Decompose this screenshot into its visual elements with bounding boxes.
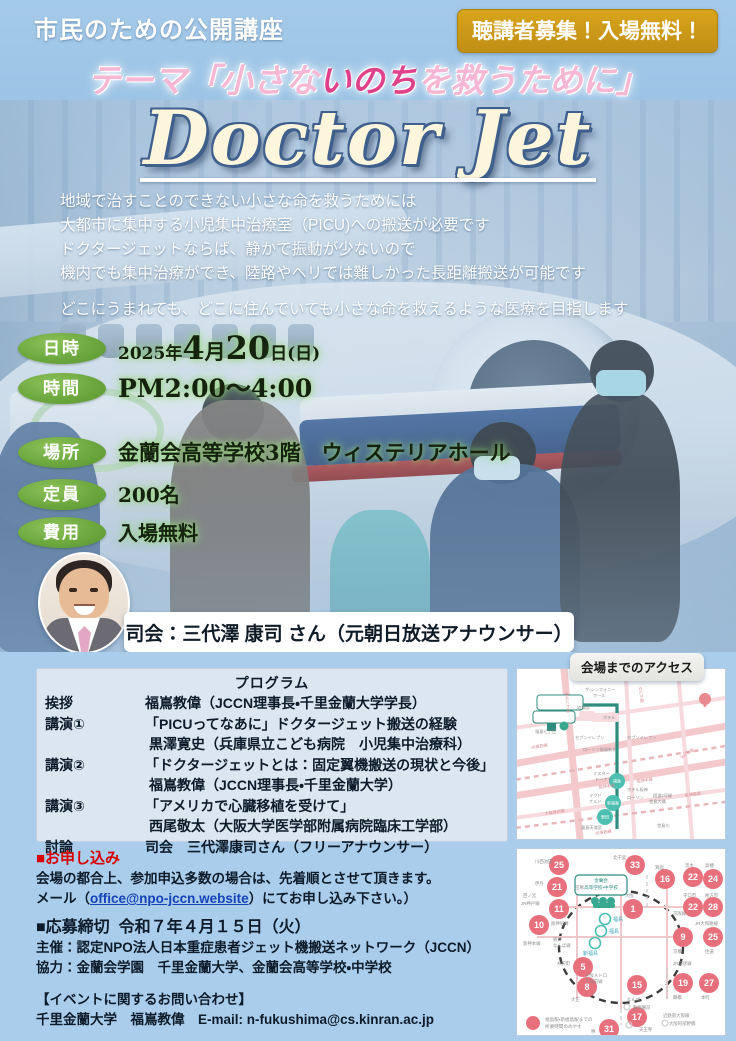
svg-text:28: 28 <box>708 902 718 912</box>
program-line-text: 「アメリカで心臓移植を受けて」 <box>145 798 354 814</box>
svg-text:JR神戸線: JR神戸線 <box>521 900 540 907</box>
svg-text:住道: 住道 <box>705 948 714 955</box>
svg-text:JR環状線: JR環状線 <box>673 960 692 967</box>
info-value-capacity: 200名 <box>118 478 180 512</box>
svg-text:本町: 本町 <box>701 994 710 1001</box>
svg-text:セブンイレブン: セブンイレブン <box>575 734 604 740</box>
svg-text:ミスター: ミスター <box>593 770 610 777</box>
application-note-2: メール（office@npo-jccn.website）にてお申し込み下さい。） <box>36 889 506 909</box>
svg-text:大阪メトロ: 大阪メトロ <box>585 972 607 979</box>
program-line: 西尾敬太（大阪大学医学部附属病院臨床工学部） <box>37 816 507 837</box>
svg-text:福島駅・新福島駅までの: 福島駅・新福島駅までの <box>545 1016 593 1023</box>
description-line-2: 大都市に集中する小児集中治療室（PICU)への搬送が必要です <box>60 214 720 238</box>
mc-banner: 司会：三代澤 康司 さん（元朝日放送アナウンサー） <box>124 612 574 652</box>
svg-text:野田: 野田 <box>601 814 609 820</box>
svg-text:茨木: 茨木 <box>685 862 694 869</box>
svg-text:10: 10 <box>534 920 544 930</box>
svg-text:所要時間のめやす: 所要時間のめやす <box>545 1023 582 1030</box>
svg-text:福島: 福島 <box>613 778 621 784</box>
svg-text:25: 25 <box>708 932 718 942</box>
program-line-text: 福嶌教偉（JCCN理事長・千里金蘭大学） <box>149 777 402 793</box>
svg-text:ローソン: ローソン <box>627 795 644 800</box>
rail-access-map[interactable]: 金蘭会 高等学校・中学校 福島福島新福島 <box>516 848 726 1036</box>
rail-map-svg: 金蘭会 高等学校・中学校 福島福島新福島 <box>517 849 725 1035</box>
svg-text:9: 9 <box>680 932 685 942</box>
application-note-2-prefix: メール（ <box>36 891 90 906</box>
event-poster: 市民のための公開講座 聴講者募集！入場無料！ テーマ「小さないのちを救うために」… <box>0 0 736 1041</box>
svg-text:川西池田: 川西池田 <box>535 858 553 865</box>
svg-text:幼稚園: 幼稚園 <box>577 704 590 711</box>
info-value-fee: 入場無料 <box>118 516 198 550</box>
contact-heading: 【イベントに関するお問い合わせ】 <box>36 990 506 1010</box>
program-line: 講演②「ドクタージェットとは：固定翼機搬送の現状と今後」 <box>37 755 507 776</box>
svg-text:11: 11 <box>554 904 564 914</box>
svg-text:22: 22 <box>688 872 698 882</box>
program-line-text: 西尾敬太（大阪大学医学部附属病院臨床工学部） <box>149 818 457 834</box>
organizer-cooperation: 協力：金蘭会学園 千里金蘭大学、金蘭会高等学校・中学校 <box>36 958 506 978</box>
svg-text:鶴橋: 鶴橋 <box>673 994 682 1001</box>
mc-text: 司会：三代澤 康司 さん（元朝日放送アナウンサー） <box>125 619 572 646</box>
program-line-label: 講演③ <box>45 796 145 817</box>
date-day-suffix: 日(日) <box>270 344 320 364</box>
svg-text:24: 24 <box>708 874 718 884</box>
info-label-fee: 費用 <box>18 517 106 548</box>
svg-text:弁天町: 弁天町 <box>557 960 571 967</box>
organizer-block: 主催：認定NPO法人日本重症患者ジェット機搬送ネットワーク（JCCN） 協力：金… <box>36 938 506 1030</box>
recruit-badge: 聴講者募集！入場無料！ <box>457 9 718 53</box>
svg-text:27: 27 <box>704 978 714 988</box>
svg-text:福島: 福島 <box>609 928 619 935</box>
svg-text:阪神本線: 阪神本線 <box>523 940 541 947</box>
svg-text:31: 31 <box>604 1024 614 1034</box>
date-year: 2025年 <box>118 344 182 364</box>
description-line-3: ドクタージェットならば、静かで振動が少ないので <box>60 238 720 262</box>
svg-text:大阪阿部野橋: 大阪阿部野橋 <box>669 1020 696 1027</box>
svg-text:セブンイレブン: セブンイレブン <box>627 734 656 740</box>
avatar-eye-right <box>90 588 98 592</box>
program-line-text: 黒澤寛史（兵庫県立こども病院 小児集中治療科） <box>149 736 471 752</box>
avatar <box>38 552 130 654</box>
svg-text:堂島川: 堂島川 <box>657 822 670 829</box>
svg-text:22: 22 <box>688 902 698 912</box>
svg-text:福島七丁目: 福島七丁目 <box>535 728 556 735</box>
program-line: 講演③「アメリカで心臓移植を受けて」 <box>37 796 507 817</box>
date-month-suffix: 月 <box>205 339 226 364</box>
program-line-text: 「PICUってなあに」ドクタージェット搬送の経験 <box>145 716 457 732</box>
svg-text:25: 25 <box>554 860 564 870</box>
access-label: 会場までのアクセス <box>570 653 704 681</box>
info-row-fee: 費用 入場無料 <box>18 516 498 552</box>
svg-text:京阪線: 京阪線 <box>673 910 687 917</box>
svg-text:新福島: 新福島 <box>607 800 619 806</box>
contact-line: 千里金蘭大学 福嶌教偉 E-mail: n-fukushima@cs.kinra… <box>36 1010 506 1030</box>
svg-text:国道2号線: 国道2号線 <box>653 792 673 799</box>
svg-text:千日前線: 千日前線 <box>585 978 603 985</box>
svg-text:JR大和路線: JR大和路線 <box>695 920 719 927</box>
svg-text:枚方市: 枚方市 <box>705 892 719 899</box>
program-line-text: 「ドクタージェットとは：固定翼機搬送の現状と今後」 <box>145 757 494 773</box>
date-day-num: 20 <box>226 329 271 367</box>
deadline-label: ■応募締切 <box>36 919 110 936</box>
svg-text:阪神尼崎: 阪神尼崎 <box>551 920 569 927</box>
svg-text:ホール: ホール <box>593 693 606 698</box>
svg-text:金蘭会: 金蘭会 <box>594 877 608 884</box>
program-line: 黒澤寛史（兵庫県立こども病院 小児集中治療科） <box>37 734 507 755</box>
svg-text:高槻: 高槻 <box>705 862 714 869</box>
deadline-value: 令和７年４月１５日（火） <box>119 919 311 936</box>
svg-text:16: 16 <box>660 874 670 884</box>
svg-text:高等学校・中学校: 高等学校・中学校 <box>584 884 618 891</box>
svg-text:21: 21 <box>552 882 562 892</box>
svg-text:なんば: なんば <box>627 996 641 1003</box>
program-title: プログラム <box>37 669 507 693</box>
svg-text:近鉄南大阪線: 近鉄南大阪線 <box>663 1012 690 1019</box>
access-map[interactable]: 福島 新福島 野田 ザ・シンフォニー ホール 幼稚園 ホテル セブンイレブン セ… <box>516 668 726 840</box>
info-label-time: 時間 <box>18 373 106 404</box>
svg-text:福島: 福島 <box>613 916 623 923</box>
title-underline-rule <box>140 178 596 182</box>
svg-text:堺: 堺 <box>591 1028 596 1035</box>
description-line-1: 地域で治すことのできない小さな命を救うためには <box>60 190 720 214</box>
application-email-link[interactable]: office@npo-jccn.website <box>90 891 249 906</box>
date-month-num: 4 <box>182 329 204 367</box>
svg-text:宝塚: 宝塚 <box>575 884 584 891</box>
info-value-date: 2025年4月20日(日) <box>118 332 320 370</box>
access-map-svg: 福島 新福島 野田 ザ・シンフォニー ホール 幼稚園 ホテル セブンイレブン セ… <box>517 669 725 839</box>
program-line-list: 挨拶福嶌教偉（JCCN理事長・千里金蘭大学学長）講演①「PICUってなあに」ドク… <box>37 693 507 857</box>
program-line-text: 福嶌教偉（JCCN理事長・千里金蘭大学学長） <box>145 695 426 711</box>
main-title: Doctor Jet <box>0 96 736 180</box>
info-label-date: 日時 <box>18 333 106 364</box>
organizer-host: 主催：認定NPO法人日本重症患者ジェット機搬送ネットワーク（JCCN） <box>36 938 506 958</box>
svg-text:1: 1 <box>630 904 635 914</box>
svg-text:京橋: 京橋 <box>673 948 682 955</box>
info-row-date: 日時 2025年4月20日(日) <box>18 332 498 368</box>
avatar-eye-left <box>69 588 77 592</box>
program-line-label: 講演① <box>45 714 145 735</box>
svg-text:阪神: 阪神 <box>553 936 562 943</box>
svg-text:守口市: 守口市 <box>683 892 697 899</box>
program-line: 福嶌教偉（JCCN理事長・千里金蘭大学） <box>37 775 507 796</box>
program-line: 講演①「PICUってなあに」ドクタージェット搬送の経験 <box>37 714 507 735</box>
application-note-1: 会場の都合上、参加申込多数の場合は、先着順とさせて頂きます。 <box>36 869 506 889</box>
svg-text:5: 5 <box>580 962 585 972</box>
info-label-place: 場所 <box>18 437 106 468</box>
info-row-capacity: 定員 200名 <box>18 478 498 514</box>
description-line-5: どこにうまれても、どこに住んでいても小さな命を救えるような医療を目指します <box>60 298 720 322</box>
svg-text:17: 17 <box>632 1012 642 1022</box>
svg-text:新福島: 新福島 <box>583 950 598 957</box>
svg-text:ホテル阪神: ホテル阪神 <box>627 786 648 793</box>
svg-text:なんば線: なんば線 <box>553 942 571 949</box>
program-line: 挨拶福嶌教偉（JCCN理事長・千里金蘭大学学長） <box>37 693 507 714</box>
program-line-label: 挨拶 <box>45 693 145 714</box>
page-title: 市民のための公開講座 <box>34 10 284 45</box>
program-line-label: 講演② <box>45 755 145 776</box>
svg-text:堂島大橋: 堂島大橋 <box>649 798 667 805</box>
svg-text:北千里: 北千里 <box>613 854 627 861</box>
svg-text:動物園前: 動物園前 <box>633 1004 651 1011</box>
application-heading: ■お申し込み <box>36 848 506 869</box>
description-block: 地域で治すことのできない小さな命を救うためには 大都市に集中する小児集中治療室（… <box>60 190 720 322</box>
program-box: プログラム 挨拶福嶌教偉（JCCN理事長・千里金蘭大学学長）講演①「PICUって… <box>36 668 508 842</box>
svg-text:33: 33 <box>630 860 640 870</box>
application-block: ■お申し込み 会場の都合上、参加申込多数の場合は、先着順とさせて頂きます。 メー… <box>36 848 506 941</box>
info-value-time: PM2:00〜4:00 <box>118 372 312 406</box>
svg-text:大正: 大正 <box>571 996 580 1003</box>
description-line-4: 機内でも集中治療ができ、陸路やヘリでは難しかった長距離搬送が可能です <box>60 262 720 286</box>
info-row-time: 時間 PM2:00〜4:00 <box>18 372 498 408</box>
svg-text:西ノ宮: 西ノ宮 <box>523 892 537 899</box>
info-label-capacity: 定員 <box>18 479 106 510</box>
description-spacer <box>60 286 720 298</box>
svg-text:箕面: 箕面 <box>655 864 664 871</box>
svg-text:伊丹: 伊丹 <box>535 880 544 887</box>
info-value-place: 金蘭会高等学校3階 ウィステリアホール <box>118 436 511 470</box>
svg-text:15: 15 <box>632 980 642 990</box>
svg-text:ローソン福島駅前: ローソン福島駅前 <box>583 746 617 753</box>
svg-text:大阪: 大阪 <box>625 892 634 899</box>
info-row-place: 場所 金蘭会高等学校3階 ウィステリアホール <box>18 436 498 472</box>
svg-text:19: 19 <box>678 978 688 988</box>
application-note-2-suffix: ）にてお申し込み下さい。） <box>249 891 417 906</box>
